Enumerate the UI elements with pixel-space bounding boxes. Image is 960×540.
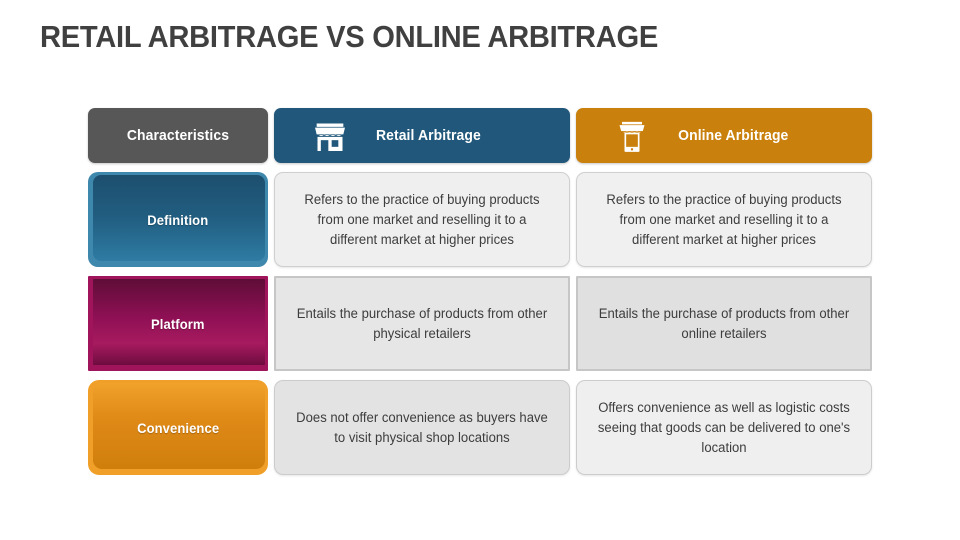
cell-convenience-online: Offers convenience as well as logistic c… bbox=[576, 380, 872, 475]
cell-platform-online: Entails the purchase of products from ot… bbox=[576, 276, 872, 371]
cell-platform-retail: Entails the purchase of products from ot… bbox=[274, 276, 570, 371]
table-row: Convenience Does not offer convenience a… bbox=[88, 380, 872, 475]
cell-convenience-retail: Does not offer convenience as buyers hav… bbox=[274, 380, 570, 475]
header-retail-arbitrage[interactable]: Retail Arbitrage bbox=[274, 108, 570, 163]
cell-definition-online-text: Refers to the practice of buying product… bbox=[595, 190, 853, 250]
cell-convenience-retail-text: Does not offer convenience as buyers hav… bbox=[293, 408, 551, 448]
header-characteristics[interactable]: Characteristics bbox=[88, 108, 268, 163]
page-title: RETAIL ARBITRAGE VS ONLINE ARBITRAGE bbox=[40, 18, 867, 56]
row-label-definition-text: Definition bbox=[148, 212, 209, 228]
cell-platform-retail-text: Entails the purchase of products from ot… bbox=[294, 304, 550, 344]
header-characteristics-label: Characteristics bbox=[127, 127, 229, 144]
cell-convenience-online-text: Offers convenience as well as logistic c… bbox=[595, 398, 853, 458]
cell-definition-retail-text: Refers to the practice of buying product… bbox=[293, 190, 551, 250]
table-row: Definition Refers to the practice of buy… bbox=[88, 172, 872, 267]
slide-canvas: RETAIL ARBITRAGE VS ONLINE ARBITRAGE Cha… bbox=[0, 0, 960, 540]
cell-definition-retail: Refers to the practice of buying product… bbox=[274, 172, 570, 267]
header-retail-arbitrage-label: Retail Arbitrage bbox=[376, 127, 481, 144]
row-label-platform[interactable]: Platform bbox=[88, 276, 268, 371]
storefront-icon bbox=[310, 116, 350, 156]
header-online-arbitrage[interactable]: Online Arbitrage bbox=[576, 108, 872, 163]
row-label-platform-text: Platform bbox=[151, 316, 205, 332]
table-header-row: Characteristics bbox=[88, 108, 872, 163]
row-label-convenience-text: Convenience bbox=[137, 420, 219, 436]
cell-platform-online-text: Entails the purchase of products from ot… bbox=[596, 304, 852, 344]
table-row: Platform Entails the purchase of product… bbox=[88, 276, 872, 371]
comparison-table: Characteristics bbox=[88, 108, 872, 475]
online-store-mobile-icon bbox=[612, 116, 652, 156]
row-label-definition[interactable]: Definition bbox=[88, 172, 268, 267]
header-online-arbitrage-label: Online Arbitrage bbox=[678, 127, 788, 144]
row-label-convenience[interactable]: Convenience bbox=[88, 380, 268, 475]
cell-definition-online: Refers to the practice of buying product… bbox=[576, 172, 872, 267]
